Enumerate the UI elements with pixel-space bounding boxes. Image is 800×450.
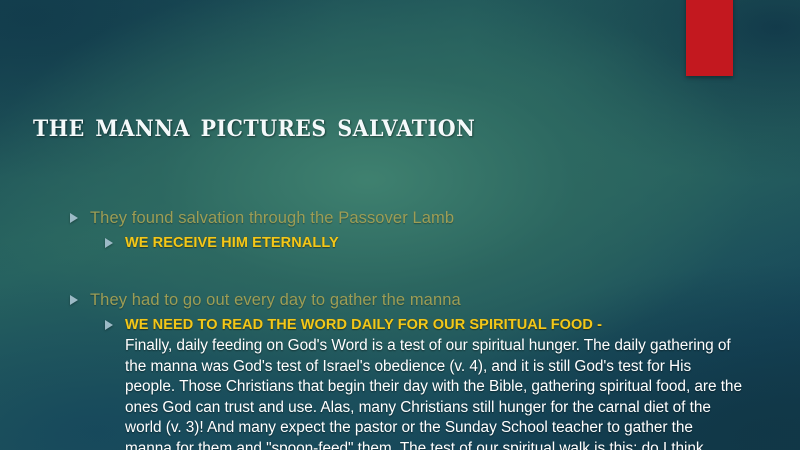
triangle-right-icon xyxy=(105,238,113,248)
level2-bullet-1-label: WE RECEIVE HIM ETERNALLY xyxy=(125,235,339,251)
level2-bullet-2-label: WE NEED TO READ THE WORD DAILY FOR OUR S… xyxy=(125,317,602,333)
bullet-block-2: They had to go out every day to gather t… xyxy=(0,288,800,450)
bullet-block-1: They found salvation through the Passove… xyxy=(0,206,800,254)
triangle-right-icon xyxy=(70,295,78,305)
triangle-right-icon xyxy=(105,320,113,330)
level1-bullet-2-label: They had to go out every day to gather t… xyxy=(90,291,461,309)
paragraph-text-pre: Finally, daily feeding on God's Word is … xyxy=(125,337,742,450)
level2-bullet-1: WE RECEIVE HIM ETERNALLY xyxy=(0,232,800,254)
level1-bullet-2: They had to go out every day to gather t… xyxy=(0,288,800,312)
red-accent-block xyxy=(686,0,733,76)
body-paragraph: Finally, daily feeding on God's Word is … xyxy=(0,336,800,450)
presentation-slide: The Manna Pictures Salvation They found … xyxy=(0,0,800,450)
page-title: The Manna Pictures Salvation xyxy=(33,106,777,146)
slide-body: They found salvation through the Passove… xyxy=(0,206,800,450)
level2-bullet-2: WE NEED TO READ THE WORD DAILY FOR OUR S… xyxy=(0,314,800,336)
triangle-right-icon xyxy=(70,213,78,223)
level1-bullet-1-label: They found salvation through the Passove… xyxy=(90,209,454,227)
block-spacer xyxy=(0,254,800,288)
level1-bullet-1: They found salvation through the Passove… xyxy=(0,206,800,230)
